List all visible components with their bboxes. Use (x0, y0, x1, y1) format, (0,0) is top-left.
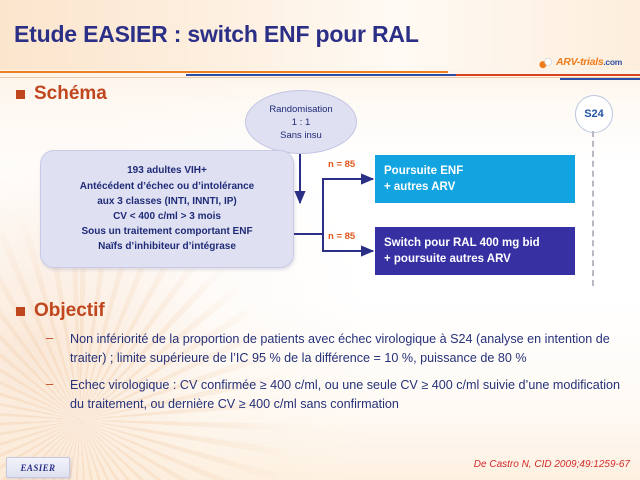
page-title: Etude EASIER : switch ENF pour RAL (14, 21, 419, 48)
criteria-line: aux 3 classes (INTI, INNTI, IP) (97, 194, 237, 209)
section-label-objectif: Objectif (34, 300, 105, 322)
citation-reference: De Castro N, CID 2009;49:1259-67 (474, 459, 630, 470)
inclusion-criteria-box: 193 adultes VIH+ Antécédent d’échec ou d… (40, 150, 294, 268)
randomisation-line2: 1 : 1 (292, 116, 311, 129)
bullet-text: Echec virologique : CV confirmée ≥ 400 c… (70, 378, 620, 411)
criteria-line: Naïfs d’inhibiteur d’intégrase (98, 239, 236, 254)
arm-switch-line1: Switch pour RAL 400 mg bid (384, 235, 575, 251)
bullet-dash-icon: – (46, 375, 53, 394)
timepoint-marker-s24: S24 (575, 95, 613, 133)
slide-canvas: Etude EASIER : switch ENF pour RAL ARV-t… (0, 0, 640, 480)
divider-blue-middle (186, 74, 456, 76)
section-heading-objectif: Objectif (16, 300, 105, 322)
treatment-arm-switch: Switch pour RAL 400 mg bid + poursuite a… (375, 227, 575, 275)
pill-icon (538, 56, 554, 70)
divider-orange-left (0, 71, 448, 73)
criteria-line: Sous un traitement comportant ENF (81, 224, 252, 239)
divider-thin (0, 77, 640, 78)
bullet-text: Non infériorité de la proportion de pati… (70, 332, 610, 365)
arm-count-switch: n = 85 (328, 231, 355, 242)
bullet-square-icon (16, 307, 25, 316)
easier-study-badge[interactable]: EASIER (6, 457, 70, 478)
randomisation-line1: Randomisation (269, 103, 332, 116)
list-item: – Echec virologique : CV confirmée ≥ 400… (44, 376, 630, 413)
logo-name: ARV-trials (556, 56, 603, 68)
objectif-bullet-list: – Non infériorité de la proportion de pa… (44, 330, 630, 422)
arm-switch-line2: + poursuite autres ARV (384, 251, 575, 267)
arv-trials-logo: ARV-trials.com (538, 55, 634, 73)
list-item: – Non infériorité de la proportion de pa… (44, 330, 630, 367)
randomisation-line3: Sans insu (280, 129, 322, 142)
bullet-dash-icon: – (46, 329, 53, 348)
criteria-line: 193 adultes VIH+ (127, 163, 207, 178)
logo-text: ARV-trials.com (556, 56, 622, 68)
divider-orange-right (456, 74, 640, 76)
divider-blue-right (560, 78, 640, 80)
timepoint-dashed-line (592, 131, 594, 286)
arm-control-line2: + autres ARV (384, 179, 575, 195)
arm-control-line1: Poursuite ENF (384, 163, 575, 179)
randomisation-node: Randomisation 1 : 1 Sans insu (245, 90, 357, 154)
arm-count-control: n = 85 (328, 159, 355, 170)
criteria-line: CV < 400 c/ml > 3 mois (113, 209, 221, 224)
criteria-line: Antécédent d’échec ou d’intolérance (80, 179, 254, 194)
treatment-arm-control: Poursuite ENF + autres ARV (375, 155, 575, 203)
logo-suffix: .com (603, 57, 622, 67)
